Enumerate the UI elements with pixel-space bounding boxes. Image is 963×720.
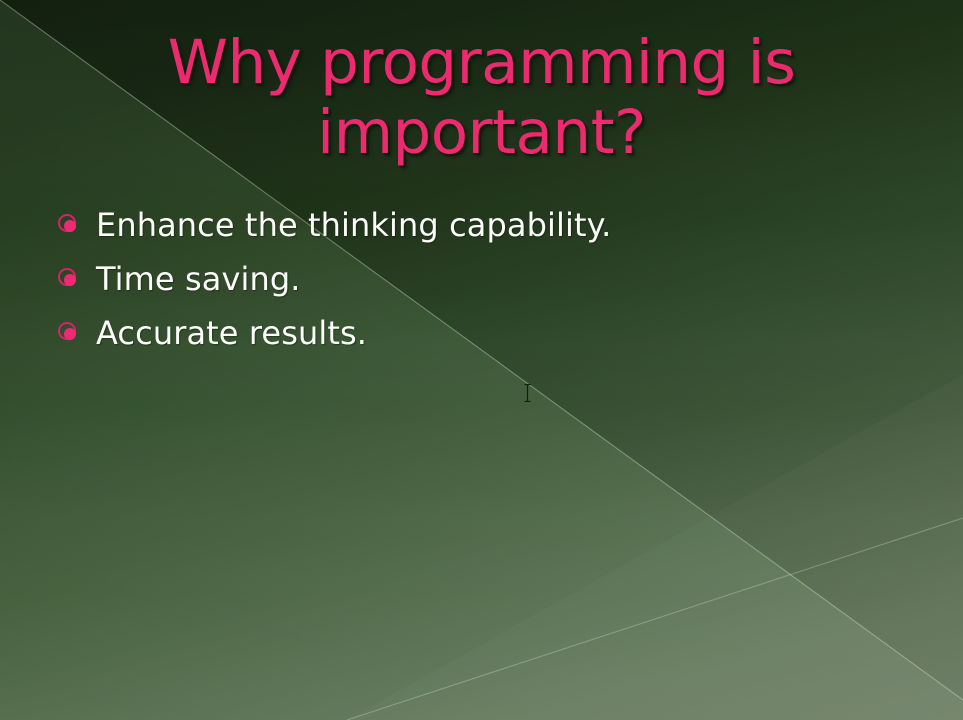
- slide-bullet-list: Enhance the thinking capability. Time sa…: [58, 198, 858, 360]
- target-bullet-icon: [58, 322, 80, 344]
- target-bullet-icon: [58, 214, 80, 236]
- list-item-label: Accurate results.: [96, 313, 367, 353]
- list-item-label: Enhance the thinking capability.: [96, 205, 611, 245]
- list-item-label: Time saving.: [96, 259, 301, 299]
- target-bullet-icon: [58, 268, 80, 290]
- slide-title: Why programming is important?: [0, 28, 963, 168]
- list-item: Accurate results.: [58, 306, 858, 360]
- list-item: Enhance the thinking capability.: [58, 198, 858, 252]
- presentation-slide: Why programming is important? Enhance th…: [0, 0, 963, 720]
- list-item: Time saving.: [58, 252, 858, 306]
